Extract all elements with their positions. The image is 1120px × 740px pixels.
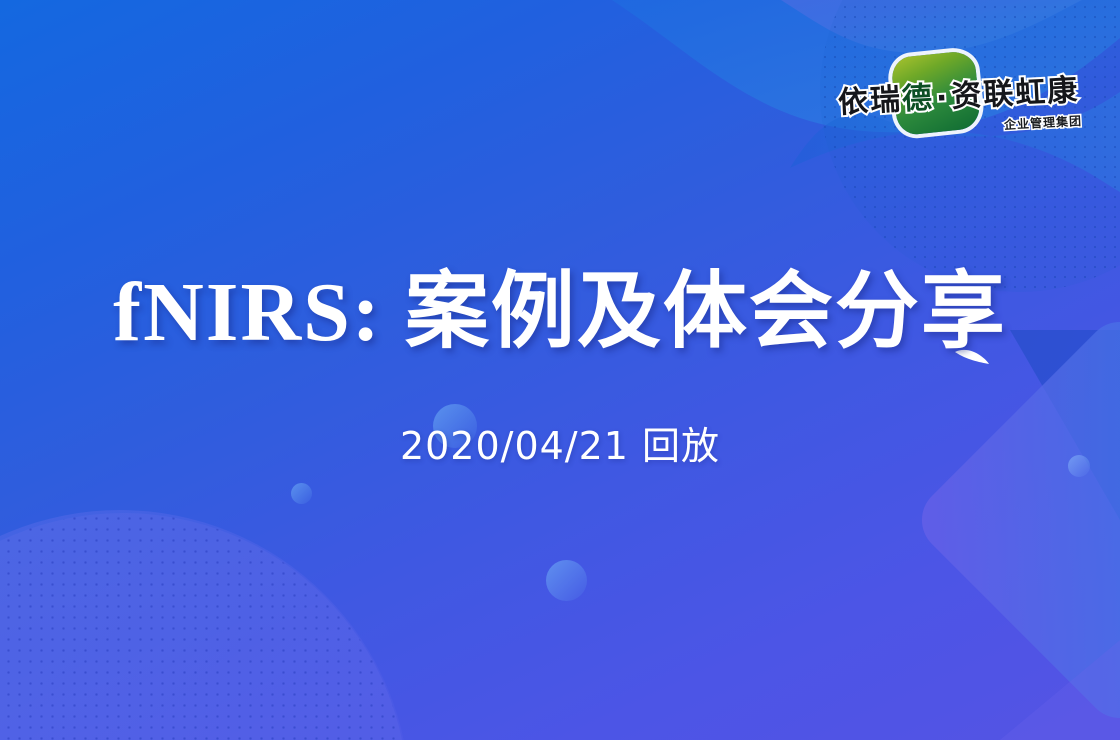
logo-char: 联 — [983, 79, 1015, 111]
logo-char: 依 — [837, 87, 869, 119]
logo-char: 德 — [901, 84, 933, 116]
dotted-band-top-right — [820, 0, 1120, 292]
bubble-decoration — [291, 483, 312, 504]
logo-subtitle: 企业管理集团 — [1004, 112, 1083, 133]
sheen-bottom-right — [1000, 640, 1120, 740]
logo-char: 虹 — [1015, 78, 1047, 110]
logo-separator-dot: · — [933, 80, 950, 116]
dotted-circle-bottom-left — [0, 513, 408, 740]
title-block: fNIRS: 案例及体会分享 2020/04/21 回放 — [0, 268, 1120, 470]
slide-subtitle: 2020/04/21 回放 — [0, 415, 1120, 470]
logo-char: 康 — [1047, 76, 1079, 108]
presentation-slide: 依 瑞 德 · 资 联 虹 康 企业管理集团 fNIRS: 案例及体会分享 20… — [0, 0, 1120, 740]
slide-title: fNIRS: 案例及体会分享 — [0, 268, 1120, 359]
logo-char: 瑞 — [869, 85, 901, 117]
logo-char: 资 — [951, 81, 983, 113]
bubble-decoration — [546, 560, 587, 601]
company-logo: 依 瑞 德 · 资 联 虹 康 企业管理集团 — [838, 52, 1086, 138]
